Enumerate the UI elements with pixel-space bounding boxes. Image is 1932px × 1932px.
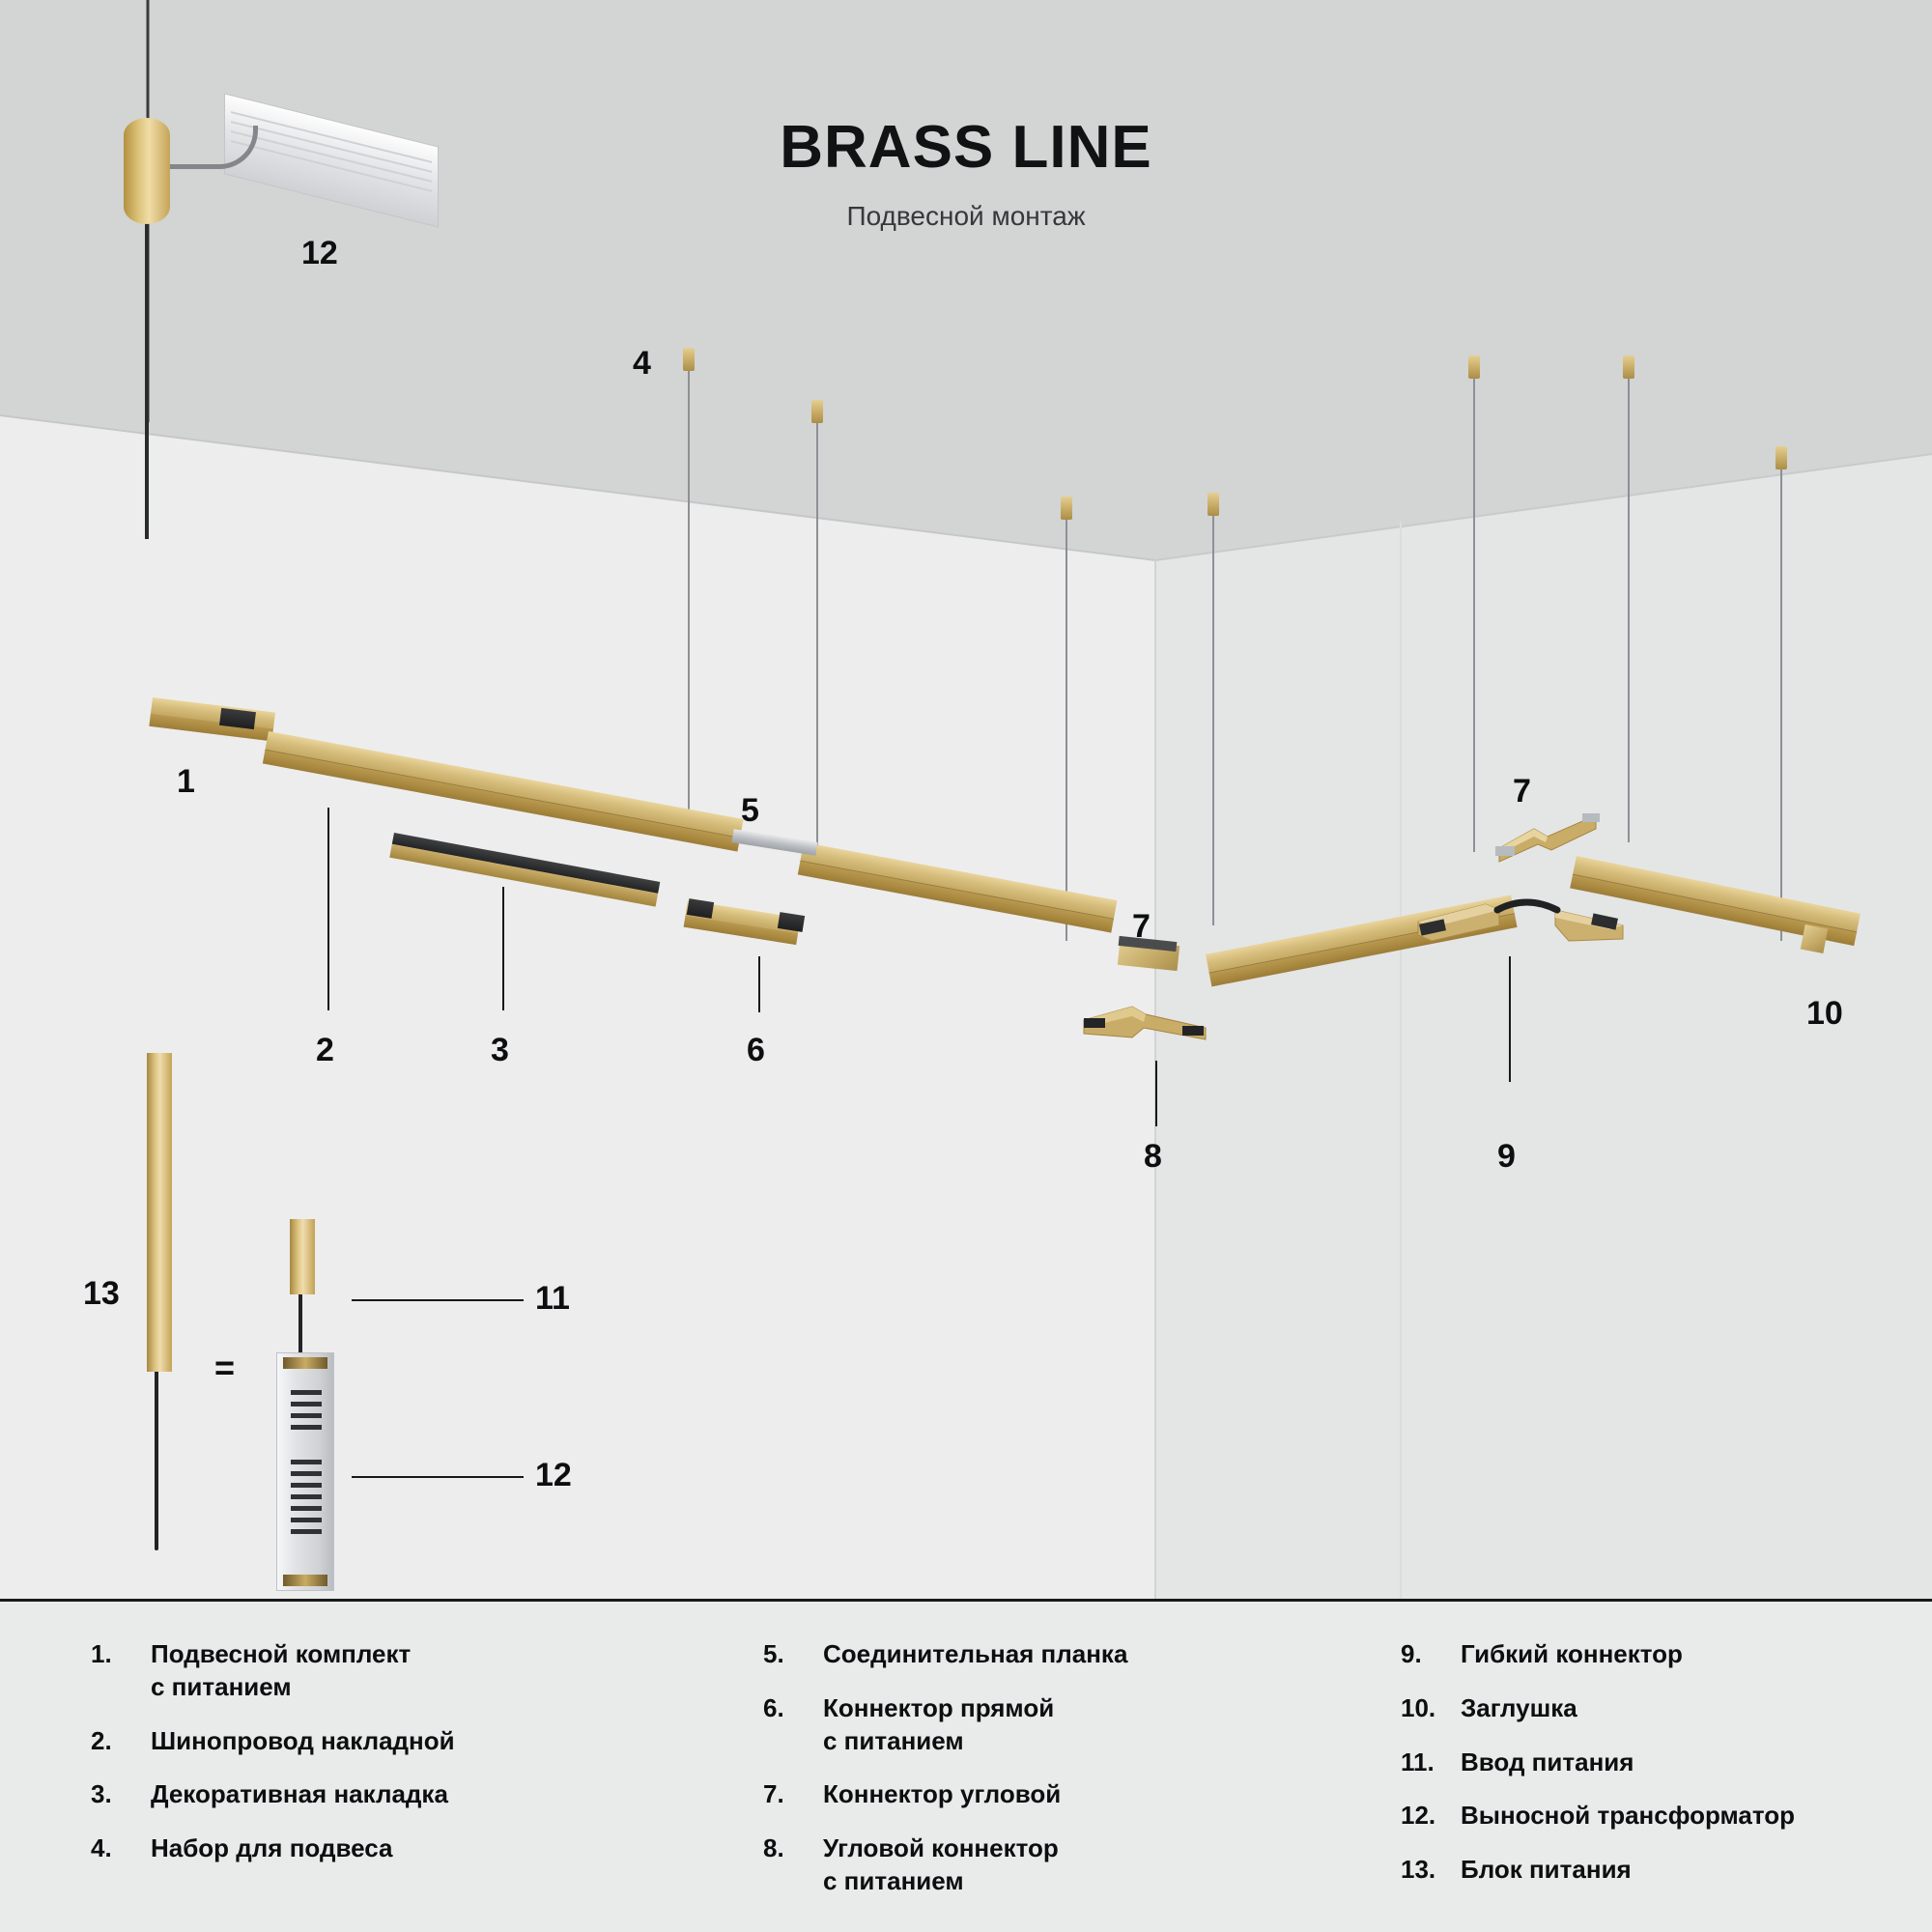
page-title: BRASS LINE — [0, 118, 1932, 178]
callout-12-top: 12 — [301, 235, 338, 272]
leader-line-8 — [1155, 1061, 1157, 1126]
power-supply-block — [147, 1053, 172, 1372]
ceiling-mount-6 — [1623, 355, 1634, 379]
remote-transformer-unit — [276, 1352, 334, 1591]
flexible-connector — [1416, 896, 1638, 943]
legend-item-number: 6. — [763, 1692, 823, 1725]
suspension-wire-5 — [1473, 379, 1475, 852]
suspension-wire-4 — [1212, 516, 1214, 925]
legend-item: 1. Подвесной комплект с питанием — [91, 1638, 638, 1704]
wall-left-plane — [0, 415, 1155, 1599]
leader-line-11 — [352, 1299, 524, 1301]
end-cap — [1801, 924, 1829, 953]
ceiling-mount-1 — [683, 348, 695, 371]
legend-item-number: 13. — [1401, 1854, 1461, 1887]
legend-columns: 1. Подвесной комплект с питанием 2. Шино… — [0, 1602, 1932, 1919]
legend-item-label: Ввод питания — [1461, 1747, 1634, 1779]
legend-column-1: 1. Подвесной комплект с питанием 2. Шино… — [0, 1638, 638, 1919]
legend-item-number: 7. — [763, 1778, 823, 1811]
callout-4: 4 — [633, 345, 651, 383]
callout-13: 13 — [83, 1275, 120, 1313]
legend-item: 6. Коннектор прямой с питанием — [763, 1692, 1275, 1758]
legend-item: 3. Декоративная накладка — [91, 1778, 638, 1811]
equals-sign: = — [214, 1348, 235, 1388]
callout-3: 3 — [491, 1032, 509, 1069]
legend-item-label: Коннектор прямой с питанием — [823, 1692, 1054, 1758]
callout-7-center: 7 — [1132, 908, 1151, 946]
legend-item-label: Гибкий коннектор — [1461, 1638, 1683, 1671]
callout-2: 2 — [316, 1032, 334, 1069]
legend-item-label: Шинопровод накладной — [151, 1725, 455, 1758]
legend-item-number: 10. — [1401, 1692, 1461, 1725]
callout-5: 5 — [741, 792, 759, 830]
legend-item-number: 3. — [91, 1778, 151, 1811]
callout-11: 11 — [535, 1280, 570, 1318]
leader-line-6 — [758, 956, 760, 1012]
legend-item-number: 8. — [763, 1833, 823, 1865]
ceiling-mount-5 — [1468, 355, 1480, 379]
title-block: BRASS LINE Подвесной монтаж — [0, 118, 1932, 230]
legend-item: 2. Шинопровод накладной — [91, 1725, 638, 1758]
legend-panel: 1. Подвесной комплект с питанием 2. Шино… — [0, 1599, 1932, 1932]
legend-item-label: Декоративная накладка — [151, 1778, 448, 1811]
legend-item-number: 1. — [91, 1638, 151, 1671]
legend-item-number: 2. — [91, 1725, 151, 1758]
callout-1: 1 — [177, 763, 195, 801]
product-diagram-scene: BRASS LINE Подвесной монтаж 12 4 1 2 — [0, 0, 1932, 1599]
legend-item: 4. Набор для подвеса — [91, 1833, 638, 1865]
suspension-wire-2 — [816, 423, 818, 848]
legend-item-label: Набор для подвеса — [151, 1833, 392, 1865]
leader-line-2 — [327, 808, 329, 1010]
corner-connector-powered — [1082, 1005, 1207, 1049]
legend-item-number: 5. — [763, 1638, 823, 1671]
legend-item-number: 9. — [1401, 1638, 1461, 1671]
ceiling-mount-2 — [811, 400, 823, 423]
legend-column-2: 5. Соединительная планка 6. Коннектор пр… — [638, 1638, 1275, 1919]
suspension-wire-7 — [1780, 469, 1782, 941]
legend-item: 9. Гибкий коннектор — [1401, 1638, 1932, 1671]
legend-item: 10. Заглушка — [1401, 1692, 1932, 1725]
callout-7-right: 7 — [1513, 773, 1531, 810]
legend-item-label: Подвесной комплект с питанием — [151, 1638, 411, 1704]
leader-line-3 — [502, 887, 504, 1010]
legend-item: 13. Блок питания — [1401, 1854, 1932, 1887]
callout-12-bottom: 12 — [535, 1457, 572, 1494]
suspension-wire-1 — [688, 371, 690, 838]
ceiling-mount-7 — [1776, 446, 1787, 469]
legend-item: 12. Выносной трансформатор — [1401, 1800, 1932, 1833]
suspension-wire-3 — [1065, 520, 1067, 941]
legend-item: 5. Соединительная планка — [763, 1638, 1275, 1671]
power-input-lead — [298, 1293, 302, 1356]
power-supply-lead — [155, 1367, 158, 1550]
legend-item-number: 12. — [1401, 1800, 1461, 1833]
legend-item-label: Коннектор угловой — [823, 1778, 1061, 1811]
legend-item-label: Выносной трансформатор — [1461, 1800, 1795, 1833]
callout-6: 6 — [747, 1032, 765, 1069]
leader-line-12 — [352, 1476, 524, 1478]
legend-column-3: 9. Гибкий коннектор 10. Заглушка 11. Вво… — [1275, 1638, 1932, 1919]
suspension-cord-item1 — [145, 220, 149, 539]
ceiling-mount-4 — [1207, 493, 1219, 516]
legend-item: 7. Коннектор угловой — [763, 1778, 1275, 1811]
legend-item: 11. Ввод питания — [1401, 1747, 1932, 1779]
leader-line-9 — [1509, 956, 1511, 1082]
legend-item-label: Угловой коннектор с питанием — [823, 1833, 1059, 1898]
legend-item-label: Соединительная планка — [823, 1638, 1127, 1671]
suspension-wire-6 — [1628, 379, 1630, 842]
callout-8: 8 — [1144, 1138, 1162, 1176]
legend-item-number: 11. — [1401, 1747, 1461, 1779]
legend-item-number: 4. — [91, 1833, 151, 1865]
callout-10: 10 — [1806, 995, 1843, 1033]
power-input-tab — [290, 1219, 315, 1294]
ceiling-mount-3 — [1061, 497, 1072, 520]
page-subtitle: Подвесной монтаж — [0, 203, 1932, 230]
legend-item-label: Блок питания — [1461, 1854, 1632, 1887]
legend-item: 8. Угловой коннектор с питанием — [763, 1833, 1275, 1898]
callout-9: 9 — [1497, 1138, 1516, 1176]
legend-item-label: Заглушка — [1461, 1692, 1577, 1725]
